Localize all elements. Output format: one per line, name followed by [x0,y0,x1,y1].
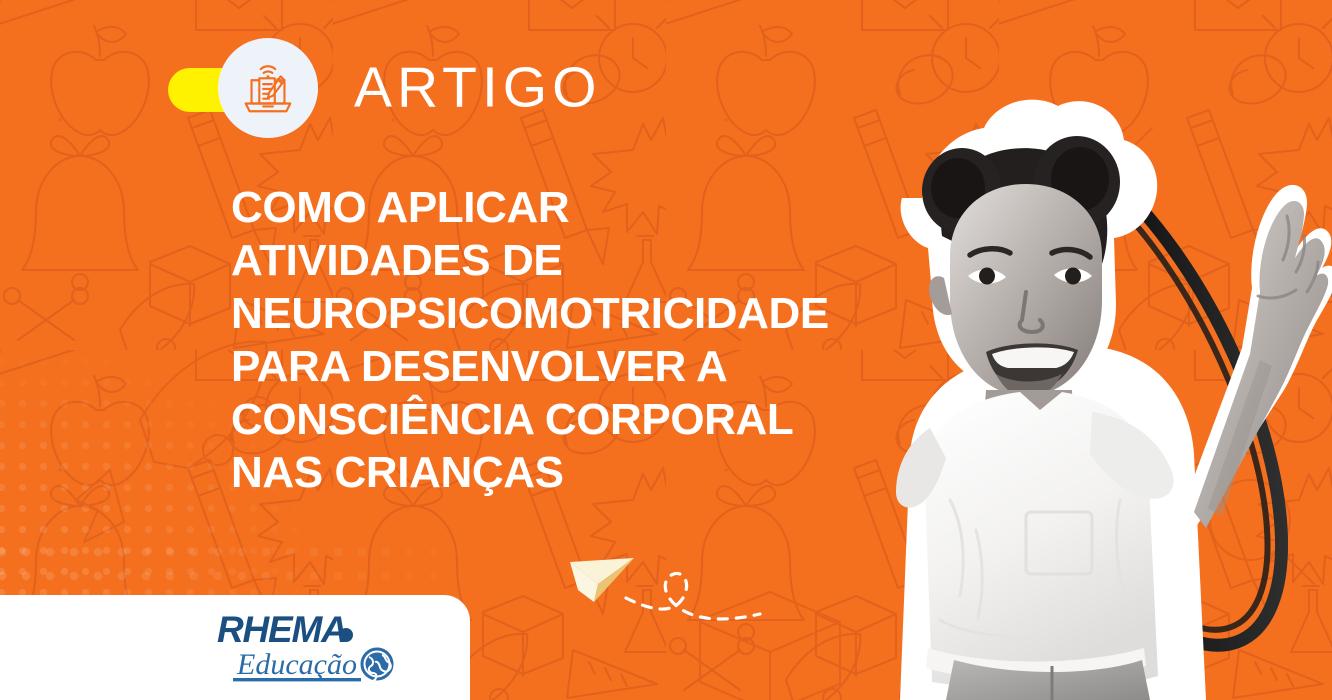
rhema-educacao-logo: RHEMA Educação [215,608,405,686]
student-photo [790,60,1332,700]
tshirt [896,392,1174,690]
logo-primary-text: RHEMA [217,609,353,650]
svg-text:Educação: Educação [236,648,357,681]
dashed-trail-path [626,573,760,619]
logo-panel: RHEMA Educação [0,595,470,700]
svg-text:RHEMA: RHEMA [217,609,347,650]
logo-secondary-text: Educação [233,648,361,681]
article-banner: ARTIGO COMO APLICAR ATIVIDADES DE NEUROP… [0,0,1332,700]
paper-plane-decoration [568,540,768,650]
paper-plane-icon [570,558,634,602]
laptop-document-pencil-icon [237,57,299,119]
badge-icon-circle [218,38,318,138]
badge-label: ARTIGO [354,60,601,117]
globe-icon [362,649,392,681]
